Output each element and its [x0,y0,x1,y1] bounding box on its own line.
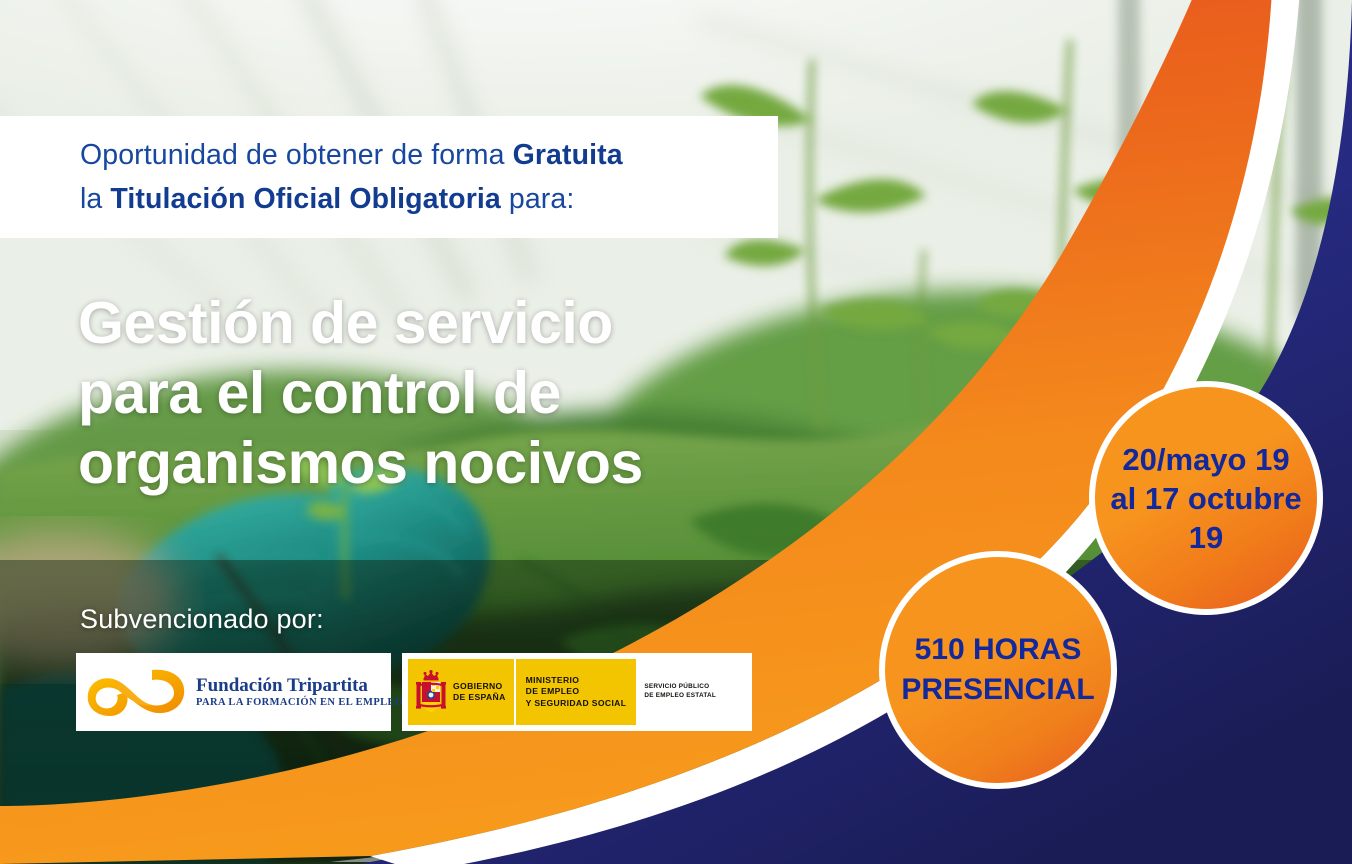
headline-line-2: la Titulación Oficial Obligatoria para: [80,177,778,221]
sepe-line-2: DE EMPLEO ESTATAL [644,692,716,701]
gob-section-ministerio: MINISTERIO DE EMPLEO Y SEGURIDAD SOCIAL [516,659,637,725]
headline-line-2-suffix: para: [501,183,574,215]
headline-line-2-bold: Titulación Oficial Obligatoria [110,183,500,215]
gob-section-sepe: SERVICIO PÚBLICO DE EMPLEO ESTATAL [636,659,746,725]
title-line-3: organismos nocivos [78,428,778,498]
sepe-line-1: SERVICIO PÚBLICO [644,683,716,692]
fundacion-tripartita-logo: Fundación Tripartita PARA LA FORMACIÓN E… [76,653,391,731]
gob-line-2: DE ESPAÑA [453,692,506,703]
gob-text-block: GOBIERNO DE ESPAÑA [453,681,506,704]
headline-line-2-prefix: la [80,183,110,215]
hours-badge-text: 510 HORAS PRESENCIAL [887,630,1108,710]
title-line-1: Gestión de servicio [78,288,778,358]
headline-line-1-bold: Gratuita [513,139,623,171]
title-line-2: para el control de [78,358,778,428]
gob-yellow-panel: GOBIERNO DE ESPAÑA MINISTERIO DE EMPLEO … [408,659,636,725]
ministerio-line-1: MINISTERIO [526,675,627,686]
sponsor-label: Subvencionado por: [80,604,324,635]
hours-badge-line-1: 510 HORAS [901,630,1094,670]
date-badge: 20/mayo 19 al 17 octubre 19 [1089,381,1323,615]
date-badge-line-3: 19 [1110,518,1301,557]
date-badge-line-2: al 17 octubre [1110,479,1301,518]
gob-line-1: GOBIERNO [453,681,506,692]
headline-line-1: Oportunidad de obtener de forma Gratuita [80,133,778,177]
headline-line-1-prefix: Oportunidad de obtener de forma [80,139,513,171]
gob-section-gobierno: GOBIERNO DE ESPAÑA [408,659,516,725]
date-badge-line-1: 20/mayo 19 [1110,440,1301,479]
date-badge-text: 20/mayo 19 al 17 octubre 19 [1096,440,1315,557]
sepe-text-block: SERVICIO PÚBLICO DE EMPLEO ESTATAL [644,683,716,700]
promotional-poster: Oportunidad de obtener de forma Gratuita… [0,0,1352,864]
spain-coat-of-arms-icon [416,670,446,714]
tripartita-subtitle: PARA LA FORMACIÓN EN EL EMPLEO [196,698,404,709]
tripartita-title: Fundación Tripartita [196,676,404,695]
ministerio-line-3: Y SEGURIDAD SOCIAL [526,698,627,709]
hours-badge-line-2: PRESENCIAL [901,670,1094,710]
tripartita-swirl-icon [82,664,190,720]
ministerio-text-block: MINISTERIO DE EMPLEO Y SEGURIDAD SOCIAL [526,675,627,709]
page-title: Gestión de servicio para el control de o… [78,288,778,498]
gobierno-de-espana-logo: GOBIERNO DE ESPAÑA MINISTERIO DE EMPLEO … [402,653,752,731]
hours-badge: 510 HORAS PRESENCIAL [879,551,1117,789]
ministerio-line-2: DE EMPLEO [526,686,627,697]
headline-band: Oportunidad de obtener de forma Gratuita… [0,116,778,238]
